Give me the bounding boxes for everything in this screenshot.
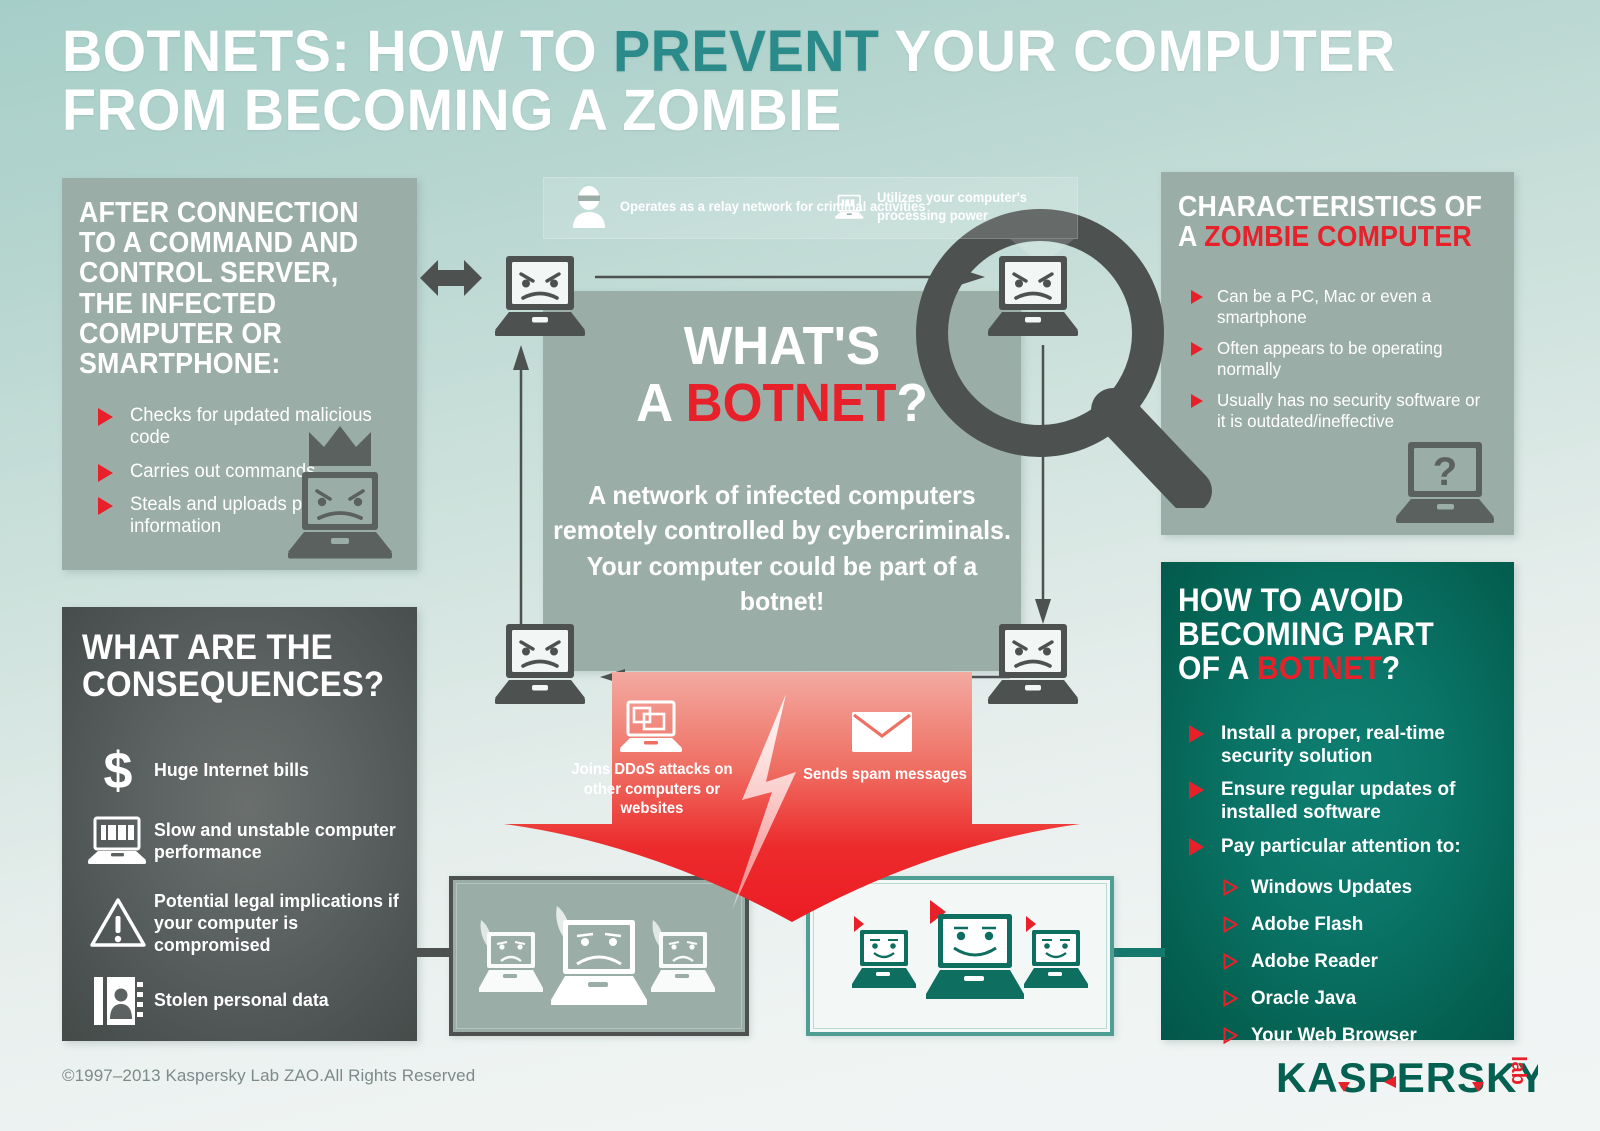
ddos-label: Joins DDoS attacks on other computers or… (556, 760, 748, 819)
angry-laptop-bottom-right-icon (985, 622, 1081, 714)
botnet-behaviour-infobar: Operates as a relay network for criminal… (543, 177, 1078, 239)
botnet-description: A network of infected computers remotely… (553, 478, 1012, 619)
botnet-title-qmark: ? (896, 373, 927, 433)
connector-consequences-to-sadbox (413, 948, 453, 957)
ddos-laptop-icon (618, 700, 684, 756)
botnet-title-botnet: BOTNET (686, 373, 897, 433)
botnet-question-title: WHAT'S A BOTNET? (555, 318, 1009, 431)
infobar-cpu-text: Utilizes your computer's processing powe… (877, 189, 1069, 225)
bidirectional-arrow-icon (420, 256, 482, 300)
laptop-cpu-icon (834, 186, 865, 228)
botnet-title-whats: WHAT'S (684, 316, 880, 376)
botnet-title-a: A (636, 373, 685, 433)
connector-happybox-to-avoid (1110, 948, 1165, 957)
angry-laptop-bottom-left-icon (492, 622, 588, 714)
spam-label: Sends spam messages (794, 765, 976, 785)
criminal-mask-icon (572, 186, 606, 228)
infographic-canvas: BOTNETS: HOW TO PREVENT YOUR COMPUTER FR… (0, 0, 1600, 1131)
infobar-item-cpu: Utilizes your computer's processing powe… (834, 186, 1077, 228)
envelope-icon (851, 710, 913, 754)
